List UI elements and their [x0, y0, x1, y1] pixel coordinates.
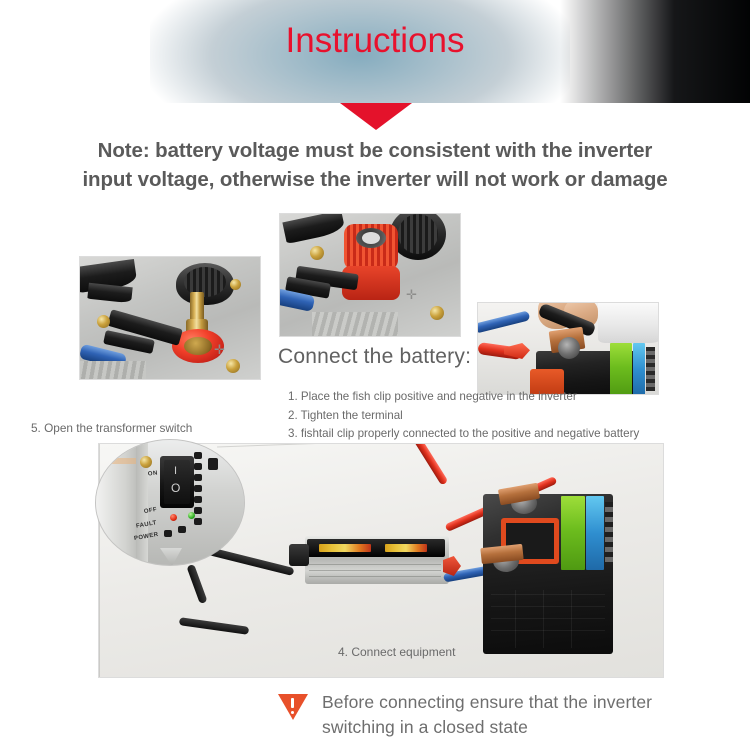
- transformer-switch-callout: ON I O OFF FAULT POWER: [96, 440, 244, 565]
- terminal-post-photo: ✛: [79, 256, 261, 380]
- photo-content: ✛: [80, 257, 260, 379]
- power-led-indicator: [188, 512, 195, 519]
- warning-exclamation-stroke: [291, 698, 294, 708]
- step-item-3: 3. fishtail clip properly connected to t…: [288, 425, 708, 444]
- connect-battery-steps: 1. Place the fish clip positive and nega…: [288, 388, 708, 444]
- note-text: Note: battery voltage must be consistent…: [0, 136, 750, 194]
- step-item-2: 2. Tighten the terminal: [288, 407, 708, 426]
- rocker-off-mark: O: [171, 482, 180, 494]
- page-header: Instructions: [0, 0, 750, 103]
- warning-line-1: Before connecting ensure that the invert…: [322, 692, 652, 712]
- warning-line-2: switching in a closed state: [322, 717, 528, 737]
- note-line-1: Note: battery voltage must be consistent…: [98, 139, 653, 162]
- triangle-down-icon: [340, 103, 412, 130]
- photo-content: [478, 303, 658, 394]
- warning-text: Before connecting ensure that the invert…: [322, 690, 652, 740]
- photo-content: ✛: [280, 214, 460, 336]
- fault-led-indicator: [170, 514, 177, 521]
- warning-exclamation-dot: [291, 711, 294, 714]
- page-title: Instructions: [0, 20, 750, 62]
- caption-step-4: 4. Connect equipment: [338, 645, 455, 659]
- connect-battery-heading: Connect the battery:: [278, 345, 471, 369]
- battery-clip-photo: [477, 302, 659, 395]
- note-line-2: input voltage, otherwise the inverter wi…: [0, 165, 750, 194]
- tightened-terminal-photo: ✛: [279, 213, 461, 337]
- rocker-on-mark: I: [174, 466, 177, 477]
- caption-step-5: 5. Open the transformer switch: [31, 421, 192, 435]
- step-item-1: 1. Place the fish clip positive and nega…: [288, 388, 708, 407]
